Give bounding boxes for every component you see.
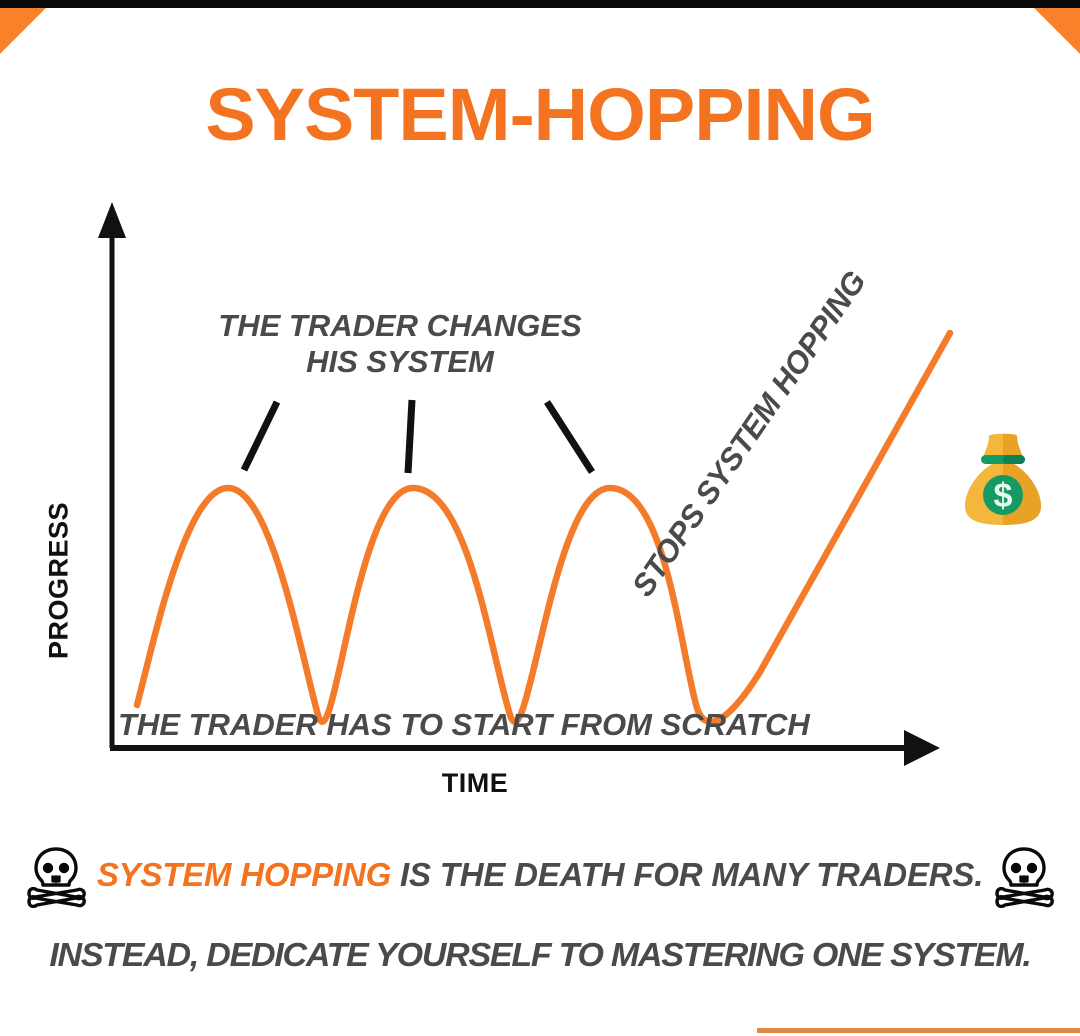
x-axis-label: TIME [0, 768, 950, 799]
corner-triangle-right [1034, 8, 1080, 54]
leader-line-3 [547, 402, 592, 472]
annotation-trader-changes: THE TRADER CHANGES HIS SYSTEM [165, 308, 635, 381]
leader-line-2 [408, 400, 412, 473]
money-bag-dollar-sign: $ [994, 477, 1013, 515]
footer-rest: IS THE DEATH FOR MANY TRADERS. [391, 856, 983, 893]
bottom-orange-rule [757, 1028, 1080, 1033]
footer-tagline-line-1: SYSTEM HOPPING IS THE DEATH FOR MANY TRA… [0, 856, 1080, 894]
annotation-line-1: THE TRADER CHANGES [218, 308, 581, 343]
annotation-start-from-scratch: THE TRADER HAS TO START FROM SCRATCH [118, 707, 858, 743]
footer-tagline-line-2: INSTEAD, DEDICATE YOURSELF TO MASTERING … [0, 936, 1080, 974]
progress-wave-path [137, 333, 950, 722]
page-title: SYSTEM-HOPPING [0, 78, 1080, 152]
top-black-bar [0, 0, 1080, 8]
leader-line-1 [244, 402, 277, 470]
y-axis-arrowhead [98, 202, 126, 238]
skull-crossbones-icon-right [992, 844, 1056, 908]
x-axis-arrowhead [904, 730, 940, 766]
infographic-canvas: SYSTEM-HOPPING PROGRESS TIME THE TRADER … [0, 0, 1080, 1036]
chart-area: PROGRESS TIME THE TRADER CHANGES HIS SYS… [0, 180, 1080, 820]
money-bag-icon: $ [962, 432, 1044, 528]
corner-triangle-left [0, 8, 46, 54]
footer-highlight: SYSTEM HOPPING [97, 856, 391, 893]
annotation-line-2: HIS SYSTEM [306, 344, 494, 379]
footer-block: SYSTEM HOPPING IS THE DEATH FOR MANY TRA… [0, 830, 1080, 1010]
y-axis-label: PROGRESS [44, 486, 75, 676]
